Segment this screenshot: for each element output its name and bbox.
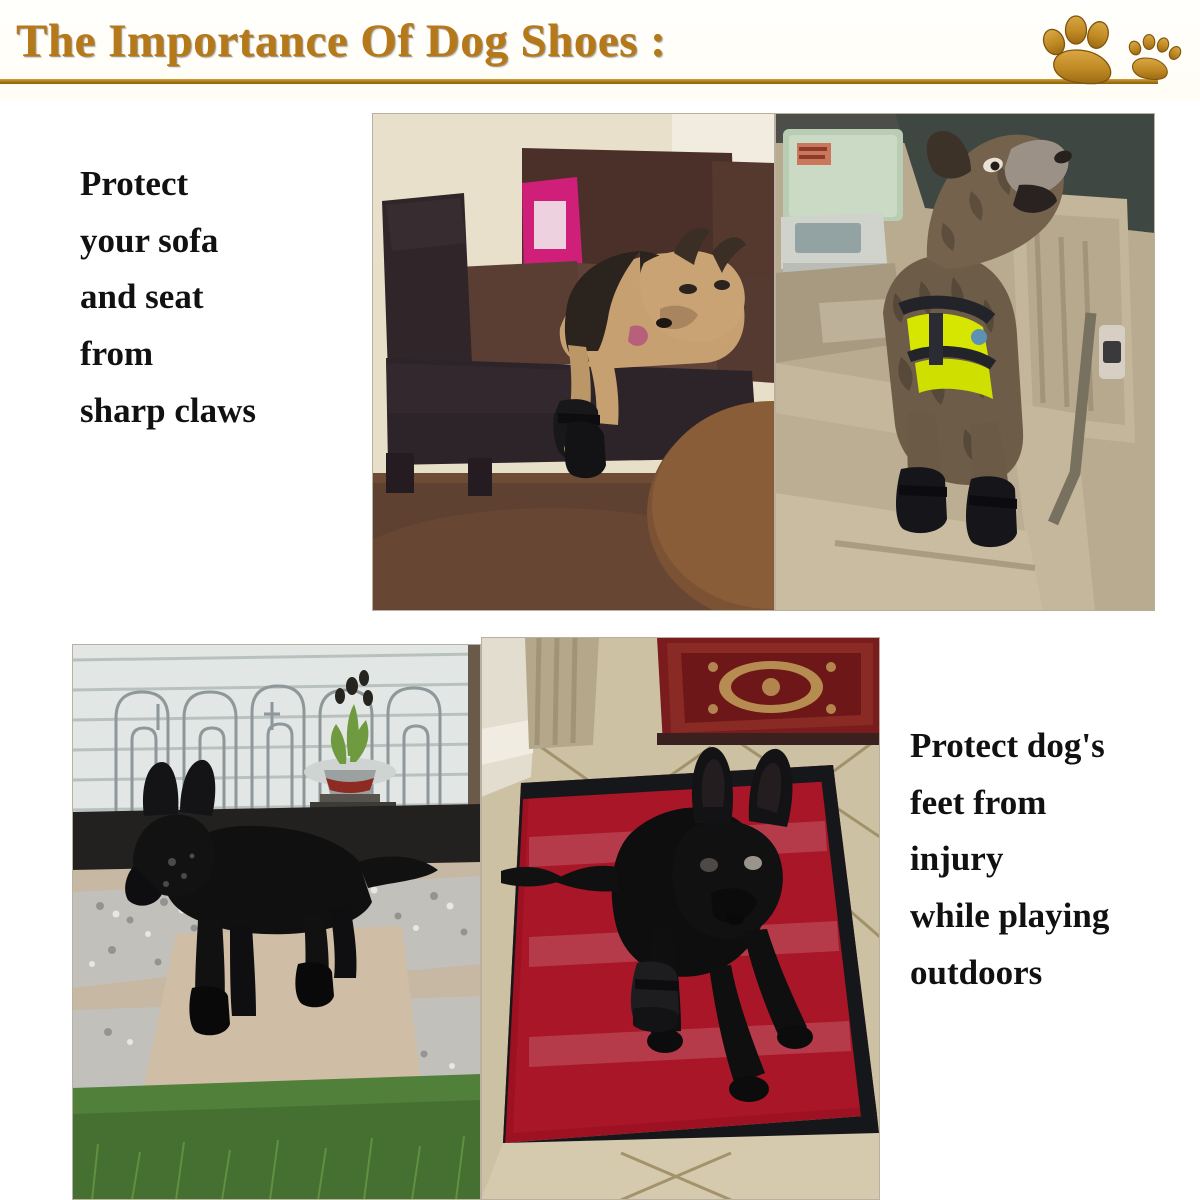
left-caption-line: sharp claws <box>80 383 360 440</box>
photo-dog-in-yard-art <box>72 644 481 1200</box>
right-caption-line: while playing <box>910 888 1200 945</box>
right-caption-line: outdoors <box>910 945 1200 1002</box>
paw-prints-svg <box>1018 8 1193 86</box>
left-caption: Protect your sofa and seat from sharp cl… <box>80 156 360 439</box>
header-divider <box>0 79 1158 84</box>
paw-print-small-icon <box>1127 35 1183 80</box>
photo-dog-in-car-art <box>775 113 1155 611</box>
photo-dog-in-car <box>775 113 1155 611</box>
left-caption-line: Protect <box>80 156 360 213</box>
photo-dog-on-red-rug <box>481 637 880 1200</box>
right-caption-line: injury <box>910 831 1200 888</box>
right-caption-line: Protect dog's <box>910 718 1200 775</box>
right-caption-line: feet from <box>910 775 1200 832</box>
right-caption: Protect dog's feet from injury while pla… <box>910 718 1200 1001</box>
left-caption-line: and seat <box>80 269 360 326</box>
photo-dog-on-sofa <box>372 113 775 611</box>
photo-dog-on-sofa-art <box>372 113 775 611</box>
page-title: The Importance Of Dog Shoes : <box>16 14 666 68</box>
header-banner: The Importance Of Dog Shoes : <box>0 0 1200 100</box>
poster-root: The Importance Of Dog Shoes : <box>0 0 1200 1200</box>
paw-print-icon <box>1040 16 1111 84</box>
left-caption-line: your sofa <box>80 213 360 270</box>
photo-dog-in-yard <box>72 644 481 1200</box>
paw-print-group <box>1018 8 1193 86</box>
photo-dog-on-red-rug-art <box>481 637 880 1200</box>
left-caption-line: from <box>80 326 360 383</box>
